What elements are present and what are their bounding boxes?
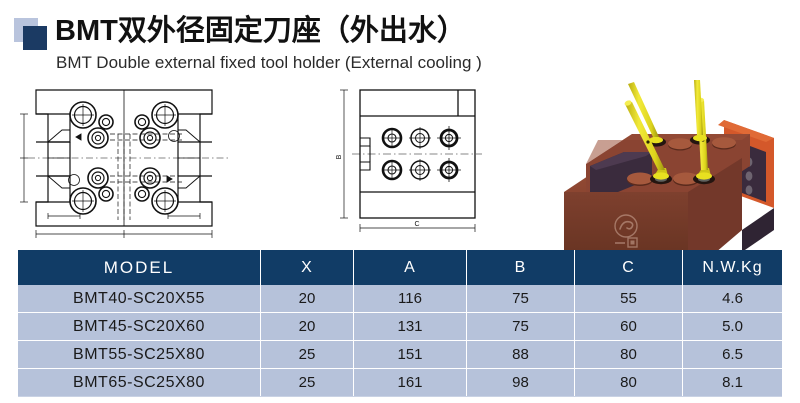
product-spec-sheet: BMT双外径固定刀座（外出水） BMT Double external fixe… (0, 0, 800, 403)
cell-model: BMT45-SC20X60 (18, 313, 261, 341)
cell-model: BMT55-SC25X80 (18, 341, 261, 369)
cell-a: 151 (354, 341, 467, 369)
table-row: BMT65-SC25X80 25 161 98 80 8.1 (18, 369, 782, 397)
logo-square-front (23, 26, 47, 50)
svg-text:C: C (414, 221, 419, 228)
table-row: BMT40-SC20X55 20 116 75 55 4.6 (18, 285, 782, 313)
cell-nw: 4.6 (683, 285, 783, 313)
table-row: BMT55-SC25X80 25 151 88 80 6.5 (18, 341, 782, 369)
cell-a: 116 (354, 285, 467, 313)
page-header: BMT双外径固定刀座（外出水） BMT Double external fixe… (0, 0, 800, 88)
page-title-en: BMT Double external fixed tool holder (E… (56, 52, 482, 74)
cell-model: BMT40-SC20X55 (18, 285, 261, 313)
table-row: BMT45-SC20X60 20 131 75 60 5.0 (18, 313, 782, 341)
cell-x: 25 (261, 341, 354, 369)
cell-b: 88 (467, 341, 575, 369)
column-header-nw: N.W.Kg (683, 250, 783, 285)
column-header-a: A (354, 250, 467, 285)
cell-x: 25 (261, 369, 354, 397)
cell-b: 75 (467, 313, 575, 341)
cell-b: 75 (467, 285, 575, 313)
page-title-cn: BMT双外径固定刀座（外出水） (55, 14, 466, 48)
cell-c: 80 (575, 341, 683, 369)
cell-x: 20 (261, 285, 354, 313)
column-header-x: X (261, 250, 354, 285)
cell-c: 60 (575, 313, 683, 341)
cell-model: BMT65-SC25X80 (18, 369, 261, 397)
column-header-c: C (575, 250, 683, 285)
cell-c: 80 (575, 369, 683, 397)
cell-nw: 5.0 (683, 313, 783, 341)
front-view-drawing: B C (330, 82, 510, 237)
column-header-model: MODEL (18, 250, 261, 285)
cell-nw: 8.1 (683, 369, 783, 397)
cell-b: 98 (467, 369, 575, 397)
technical-drawings: B C (0, 78, 800, 248)
cell-x: 20 (261, 313, 354, 341)
table-header-row: MODEL X A B C N.W.Kg (18, 250, 782, 285)
svg-text:B: B (336, 154, 343, 159)
cell-c: 55 (575, 285, 683, 313)
cell-a: 131 (354, 313, 467, 341)
cell-nw: 6.5 (683, 341, 783, 369)
brand-logo (14, 18, 50, 50)
specification-table: MODEL X A B C N.W.Kg BMT40-SC20X55 20 11… (18, 250, 782, 397)
column-header-b: B (467, 250, 575, 285)
cell-a: 161 (354, 369, 467, 397)
top-view-drawing (14, 80, 244, 240)
